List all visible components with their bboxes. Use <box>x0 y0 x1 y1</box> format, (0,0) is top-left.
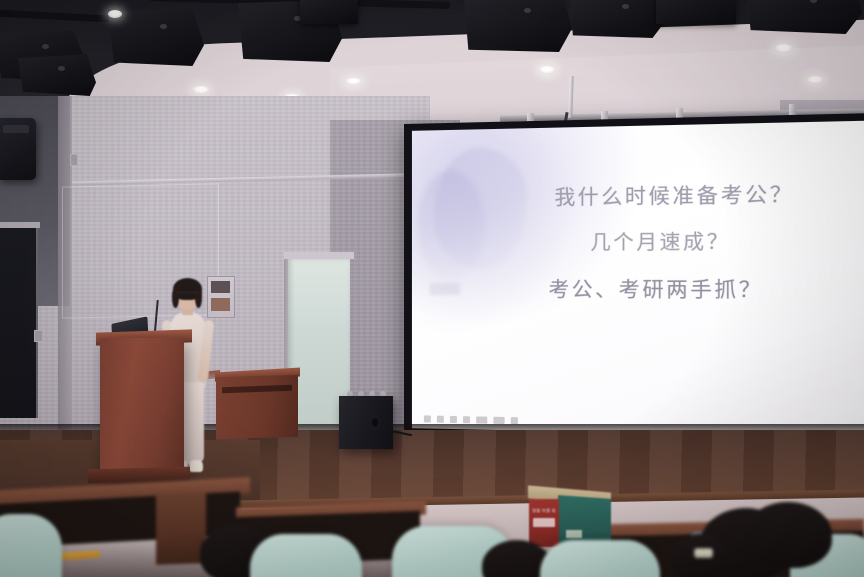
slide-accent-shape-2 <box>418 170 484 281</box>
slide-menu-icon[interactable] <box>476 416 487 423</box>
stage-light-fixture <box>570 0 666 38</box>
wall-mounted-speaker <box>0 118 36 180</box>
lecture-hall-photo: 我什么时候准备考公？ 几个月速成？ 考公、考研两手抓？ <box>0 0 864 577</box>
audience-head <box>744 502 832 568</box>
projection-screen-surface: 我什么时候准备考公？ 几个月速成？ 考公、考研两手抓？ <box>412 120 864 438</box>
grid-icon[interactable] <box>493 417 504 424</box>
wall-outlet-plate[interactable] <box>34 330 43 342</box>
ceiling-downlight <box>806 76 824 84</box>
eraser-icon[interactable] <box>463 416 470 423</box>
highlighter-icon[interactable] <box>450 416 457 423</box>
slide-annotation-toolbar[interactable] <box>424 415 518 424</box>
audience-seat[interactable] <box>540 540 660 577</box>
stage-light-fixture <box>18 54 96 96</box>
projection-screen[interactable]: 我什么时候准备考公？ 几个月速成？ 考公、考研两手抓？ <box>404 113 864 453</box>
presenter-hair-side-left <box>172 288 179 308</box>
slide-line-1: 我什么时候准备考公？ <box>498 184 857 209</box>
glasses-icon <box>177 292 198 298</box>
stage-light-fixture <box>656 0 736 24</box>
box-label-secondary <box>566 530 582 538</box>
box-front-text: 限量 特惠 装 <box>531 508 557 513</box>
slide-line-2: 几个月速成？ <box>473 232 856 254</box>
presenter-shoe-right <box>189 460 203 472</box>
audience-seat[interactable] <box>250 534 362 577</box>
door-recess-header <box>284 252 354 259</box>
stage-light-fixture <box>300 0 358 24</box>
pen-icon[interactable] <box>424 415 431 422</box>
hair-clip <box>694 548 713 558</box>
wooden-podium <box>100 338 184 480</box>
ceiling-downlight <box>108 10 122 18</box>
ceiling-downlight <box>192 86 210 94</box>
side-doorway[interactable] <box>0 228 38 418</box>
slide-faint-mark <box>430 283 460 295</box>
ceiling-downlight <box>538 66 556 74</box>
ceiling-downlight <box>345 78 362 85</box>
audience-desk-panel <box>156 493 206 565</box>
slide-text-block: 我什么时候准备考公？ 几个月速成？ 考公、考研两手抓？ <box>487 184 856 327</box>
pointer-icon[interactable] <box>437 416 444 423</box>
presenter-hair-side-right <box>195 288 202 308</box>
ceiling-downlight <box>774 44 793 53</box>
stage-light-fixture <box>464 0 572 52</box>
stage-light-fixture <box>108 8 204 66</box>
stage-light-fixture <box>746 0 862 34</box>
floor-speaker-cabinet <box>339 396 393 449</box>
slide-line-3: 考公、考研两手抓？ <box>463 280 856 301</box>
box-label <box>533 518 555 527</box>
wall-switch-plate[interactable] <box>70 154 78 166</box>
